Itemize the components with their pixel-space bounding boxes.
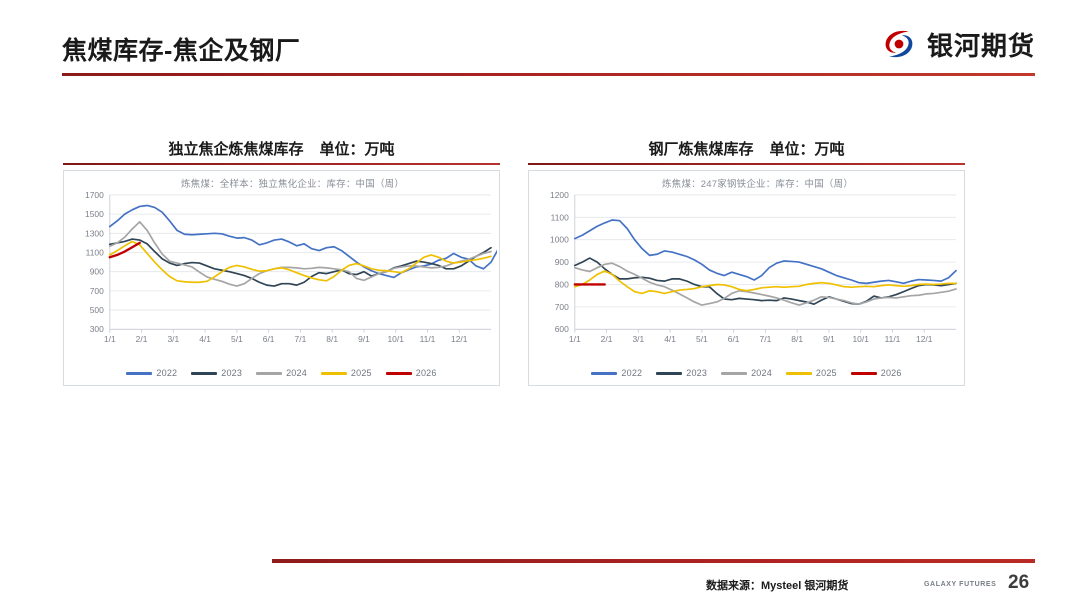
y-axis-tick-label: 1700: [85, 190, 104, 200]
x-axis-tick-label: 6/1: [263, 334, 275, 344]
legend-entry-2026[interactable]: 2026: [851, 368, 902, 378]
x-axis-tick-label: 11/1: [420, 334, 436, 344]
x-axis-tick-label: 6/1: [728, 334, 740, 344]
x-axis-tick-label: 7/1: [760, 334, 772, 344]
legend-label-2023: 2023: [686, 368, 707, 378]
x-axis-tick-label: 8/1: [326, 334, 338, 344]
series-line-2024: [110, 222, 491, 286]
x-axis-tick-label: 10/1: [853, 334, 870, 344]
y-axis-tick-label: 700: [90, 286, 104, 296]
chart-1-heading-divider: [63, 163, 500, 165]
data-source-note: 数据来源：Mysteel 银河期货: [706, 577, 848, 593]
y-axis-tick-label: 700: [555, 302, 569, 312]
y-axis-tick-label: 800: [555, 279, 569, 289]
y-axis-tick-label: 1300: [85, 228, 104, 238]
legend-entry-2022[interactable]: 2022: [591, 368, 642, 378]
galaxy-swoosh-icon: [880, 25, 918, 63]
chart-panel-coking-coal-inventory-steel-mills: 钢厂炼焦煤库存单位：万吨 炼焦煤：247家钢铁企业：库存：中国（周） 60070…: [528, 138, 965, 388]
legend-entry-2025[interactable]: 2025: [786, 368, 837, 378]
x-axis-tick-label: 4/1: [664, 334, 676, 344]
chart-2-box: 炼焦煤：247家钢铁企业：库存：中国（周） 600700800900100011…: [528, 170, 965, 386]
legend-label-2023: 2023: [221, 368, 242, 378]
legend-entry-2022[interactable]: 2022: [126, 368, 177, 378]
brand-logo: 银河期货: [880, 25, 1035, 63]
legend-swatch-2022: [591, 372, 617, 375]
footer-brand-english: GALAXY FUTURES: [924, 581, 996, 588]
legend-swatch-2026: [851, 372, 877, 375]
chart-2-plot: 6007008009001000110012001/12/13/14/15/16…: [531, 189, 962, 351]
chart-1-box: 炼焦煤：全样本：独立焦化企业：库存：中国（周） 3005007009001100…: [63, 170, 500, 386]
footer-divider: [272, 559, 1035, 563]
legend-label-2022: 2022: [156, 368, 177, 378]
legend-entry-2023[interactable]: 2023: [656, 368, 707, 378]
y-axis-tick-label: 1100: [86, 247, 104, 257]
x-axis-tick-label: 10/1: [388, 334, 405, 344]
legend-label-2022: 2022: [621, 368, 642, 378]
chart-2-unit: 单位：万吨: [770, 141, 845, 158]
y-axis-tick-label: 300: [90, 324, 104, 334]
x-axis-tick-label: 7/1: [295, 334, 307, 344]
chart-1-title: 独立焦企炼焦煤库存: [168, 141, 303, 158]
chart-panel-coking-coal-inventory-coke-plants: 独立焦企炼焦煤库存单位：万吨 炼焦煤：全样本：独立焦化企业：库存：中国（周） 3…: [63, 138, 500, 388]
legend-label-2025: 2025: [351, 368, 372, 378]
legend-label-2024: 2024: [751, 368, 772, 378]
legend-swatch-2022: [126, 372, 152, 375]
x-axis-tick-label: 4/1: [199, 334, 211, 344]
legend-swatch-2023: [191, 372, 217, 375]
page-number: 26: [1008, 572, 1029, 594]
chart-2-subtitle: 炼焦煤：247家钢铁企业：库存：中国（周）: [529, 176, 964, 190]
y-axis-tick-label: 1100: [551, 212, 569, 222]
legend-entry-2024[interactable]: 2024: [256, 368, 307, 378]
x-axis-tick-label: 2/1: [601, 334, 613, 344]
y-axis-tick-label: 1500: [85, 209, 104, 219]
legend-label-2024: 2024: [286, 368, 307, 378]
legend-entry-2026[interactable]: 2026: [386, 368, 437, 378]
chart-1-heading: 独立焦企炼焦煤库存单位：万吨: [63, 138, 500, 163]
x-axis-tick-label: 12/1: [916, 334, 933, 344]
chart-1-subtitle: 炼焦煤：全样本：独立焦化企业：库存：中国（周）: [64, 176, 499, 190]
x-axis-tick-label: 12/1: [451, 334, 468, 344]
legend-swatch-2023: [656, 372, 682, 375]
legend-label-2026: 2026: [881, 368, 902, 378]
x-axis-tick-label: 3/1: [167, 334, 179, 344]
y-axis-tick-label: 1000: [550, 235, 569, 245]
chart-1-unit: 单位：万吨: [320, 141, 395, 158]
x-axis-tick-label: 3/1: [632, 334, 644, 344]
legend-entry-2023[interactable]: 2023: [191, 368, 242, 378]
legend-label-2025: 2025: [816, 368, 837, 378]
chart-2-title: 钢厂炼焦煤库存: [648, 141, 753, 158]
legend-swatch-2025: [321, 372, 347, 375]
x-axis-tick-label: 9/1: [823, 334, 835, 344]
x-axis-tick-label: 5/1: [231, 334, 243, 344]
y-axis-tick-label: 600: [555, 324, 569, 334]
y-axis-tick-label: 900: [555, 257, 569, 267]
x-axis-tick-label: 5/1: [696, 334, 708, 344]
header-divider: [62, 73, 1035, 76]
chart-1-plot: 30050070090011001300150017001/12/13/14/1…: [66, 189, 497, 351]
legend-swatch-2026: [386, 372, 412, 375]
x-axis-tick-label: 9/1: [358, 334, 370, 344]
legend-swatch-2025: [786, 372, 812, 375]
legend-swatch-2024: [256, 372, 282, 375]
brand-name: 银河期货: [927, 26, 1035, 63]
legend-entry-2025[interactable]: 2025: [321, 368, 372, 378]
chart-2-heading-divider: [528, 163, 965, 165]
x-axis-tick-label: 11/1: [885, 334, 901, 344]
page-title: 焦煤库存-焦企及钢厂: [62, 31, 300, 67]
x-axis-tick-label: 1/1: [569, 334, 581, 344]
legend-swatch-2024: [721, 372, 747, 375]
x-axis-tick-label: 1/1: [104, 334, 116, 344]
chart-2-legend: 20222023202420252026: [529, 368, 964, 378]
x-axis-tick-label: 2/1: [136, 334, 148, 344]
chart-1-legend: 20222023202420252026: [64, 368, 499, 378]
y-axis-tick-label: 1200: [550, 190, 569, 200]
legend-label-2026: 2026: [416, 368, 437, 378]
y-axis-tick-label: 500: [90, 305, 104, 315]
chart-2-heading: 钢厂炼焦煤库存单位：万吨: [528, 138, 965, 163]
legend-entry-2024[interactable]: 2024: [721, 368, 772, 378]
x-axis-tick-label: 8/1: [791, 334, 803, 344]
y-axis-tick-label: 900: [90, 267, 104, 277]
